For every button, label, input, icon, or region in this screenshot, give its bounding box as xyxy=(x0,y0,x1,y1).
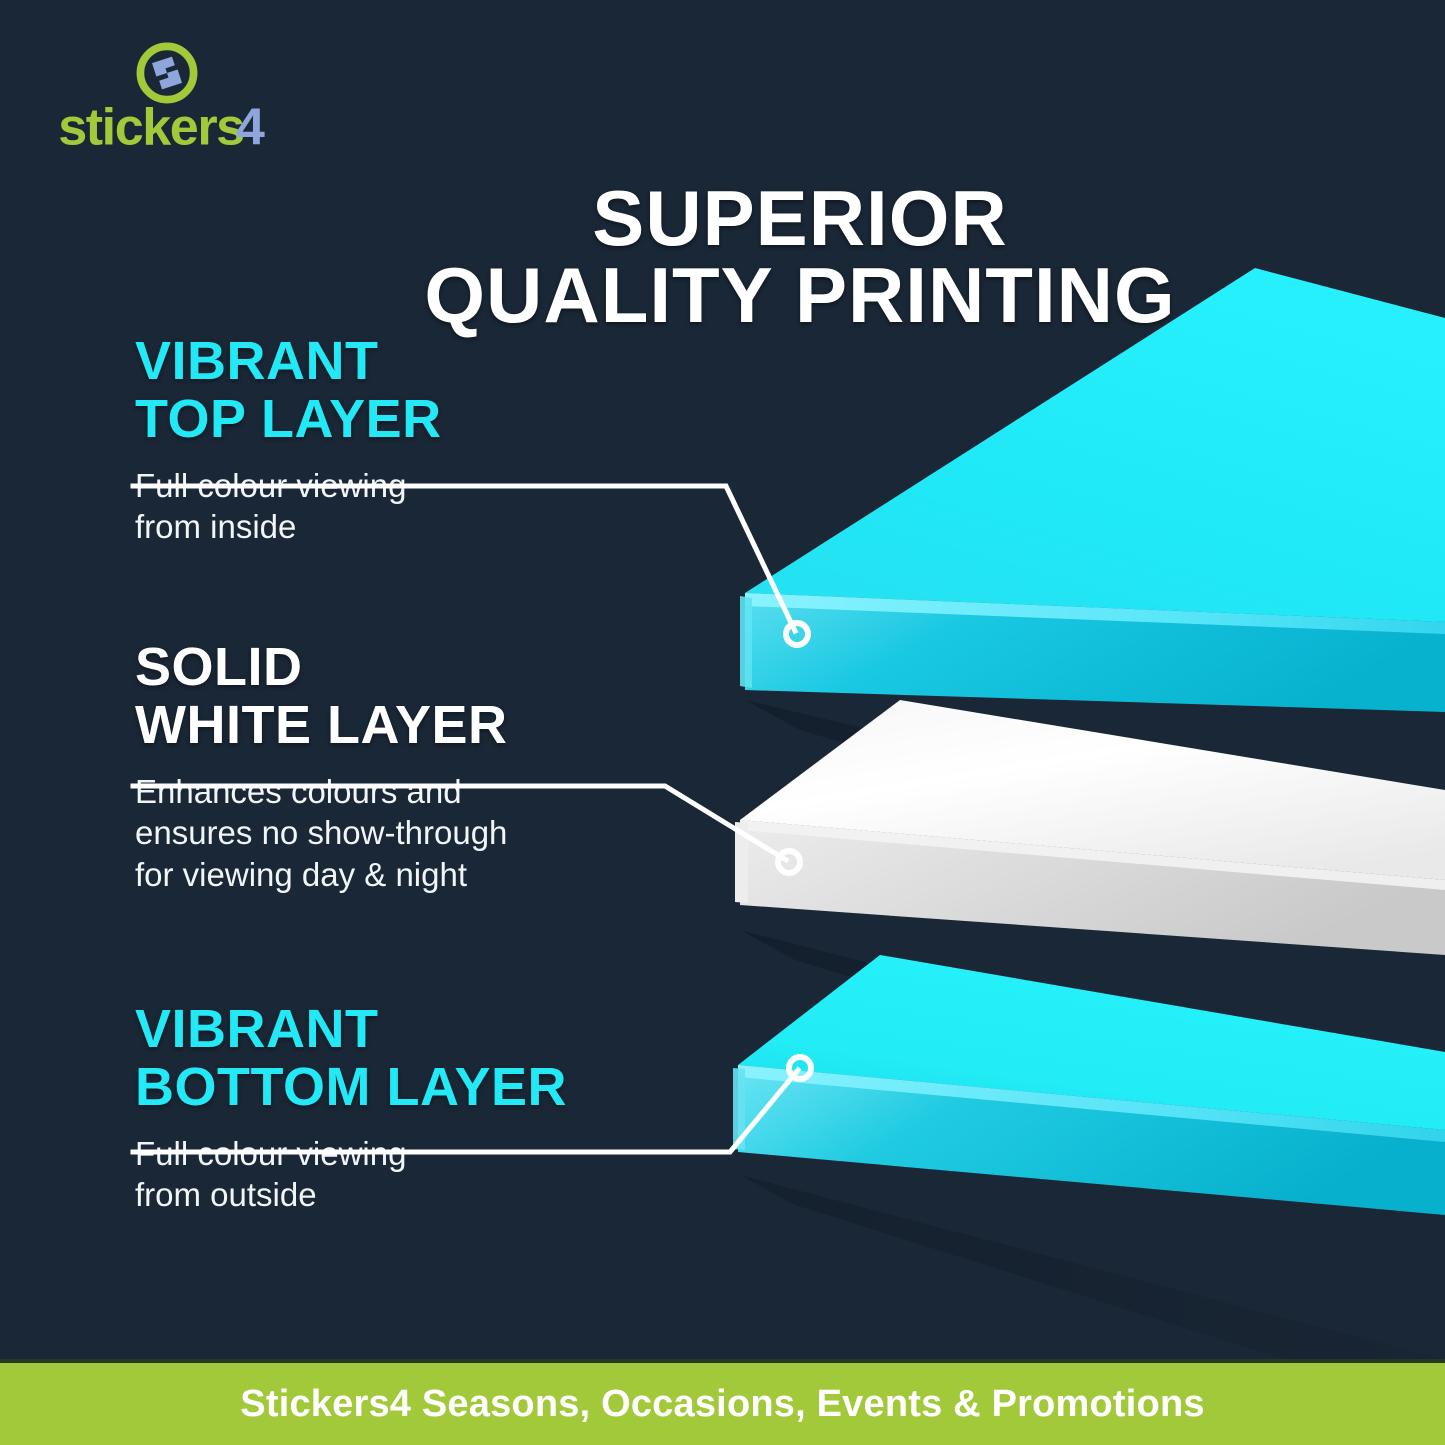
page-title: SUPERIOR QUALITY PRINTING xyxy=(300,180,1300,333)
callout-top-description: Full colour viewing from inside xyxy=(135,465,745,548)
page-title-line-1: SUPERIOR xyxy=(300,180,1300,256)
logo-word-four: 4 xyxy=(236,100,265,156)
layer-bottom-vibrant xyxy=(733,955,1445,1215)
callout-middle-desc-line-1: Enhances colours and xyxy=(135,771,745,813)
callout-top-desc-line-2: from inside xyxy=(135,506,745,548)
callout-middle-description: Enhances colours and ensures no show-thr… xyxy=(135,771,745,896)
callout-bottom-layer: VIBRANT BOTTOM LAYER Full colour viewing… xyxy=(135,1000,745,1216)
bottom-banner: Stickers4 Seasons, Occasions, Events & P… xyxy=(0,1363,1445,1445)
callout-white-layer: SOLID WHITE LAYER Enhances colours and e… xyxy=(135,638,745,895)
callout-top-layer: VIBRANT TOP LAYER Full colour viewing fr… xyxy=(135,332,745,548)
stickers4-circle-arrow-logo xyxy=(132,38,202,108)
callout-bottom-heading-line-2: BOTTOM LAYER xyxy=(135,1058,745,1116)
callout-middle-desc-line-3: for viewing day & night xyxy=(135,854,745,896)
stickers4-wordmark: stickers 4 xyxy=(52,100,302,156)
callout-middle-heading-line-1: SOLID xyxy=(135,638,745,696)
bottom-banner-text: Stickers4 Seasons, Occasions, Events & P… xyxy=(240,1383,1204,1426)
callout-middle-heading: SOLID WHITE LAYER xyxy=(135,638,745,755)
callout-top-heading: VIBRANT TOP LAYER xyxy=(135,332,745,449)
callout-top-desc-line-1: Full colour viewing xyxy=(135,465,745,507)
callout-bottom-heading-line-1: VIBRANT xyxy=(135,1000,745,1058)
callout-bottom-desc-line-1: Full colour viewing xyxy=(135,1133,745,1175)
callout-bottom-desc-line-2: from outside xyxy=(135,1174,745,1216)
callout-top-heading-line-1: VIBRANT xyxy=(135,332,745,390)
callout-middle-heading-line-2: WHITE LAYER xyxy=(135,696,745,754)
stickers4-logo[interactable]: stickers 4 xyxy=(52,38,302,158)
callout-bottom-heading: VIBRANT BOTTOM LAYER xyxy=(135,1000,745,1117)
logo-word-stickers: stickers xyxy=(58,100,244,156)
callout-bottom-description: Full colour viewing from outside xyxy=(135,1133,745,1216)
callout-top-heading-line-2: TOP LAYER xyxy=(135,390,745,448)
callout-middle-desc-line-2: ensures no show-through xyxy=(135,812,745,854)
poster-canvas: stickers 4 SUPERIOR QUALITY PRINTING VIB… xyxy=(0,0,1445,1445)
page-title-line-2: QUALITY PRINTING xyxy=(300,257,1300,333)
